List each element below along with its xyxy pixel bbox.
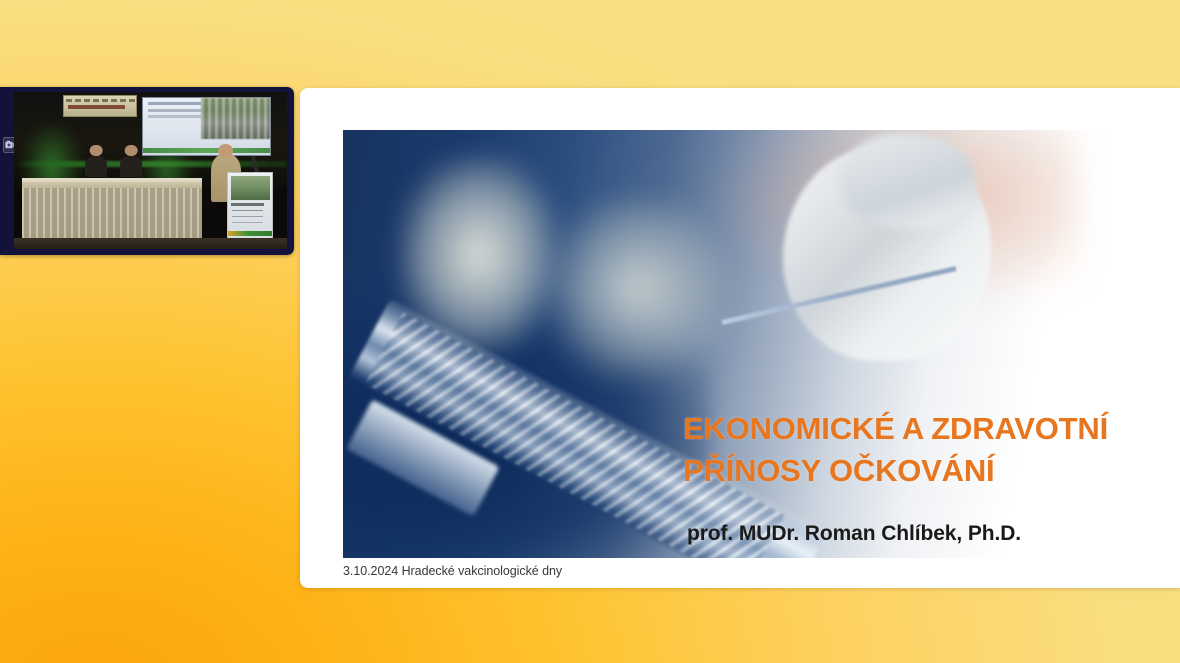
lectern-poster-image <box>231 176 270 200</box>
lectern-poster-text <box>231 203 264 206</box>
presentation-slide-image[interactable]: EKONOMICKÉ A ZDRAVOTNÍ PŘÍNOSY OČKOVÁNÍ … <box>343 130 1143 558</box>
slide-title: EKONOMICKÉ A ZDRAVOTNÍ PŘÍNOSY OČKOVÁNÍ <box>683 408 1139 491</box>
slide-panel: EKONOMICKÉ A ZDRAVOTNÍ PŘÍNOSY OČKOVÁNÍ … <box>300 88 1180 588</box>
stage-floor-light-stripe <box>14 161 287 167</box>
webcam-video-panel[interactable] <box>0 87 294 255</box>
projected-photo <box>201 98 269 140</box>
slide-photo-bokeh-two <box>551 198 727 378</box>
seated-panelist-two <box>120 156 142 176</box>
lectern-poster-band <box>228 231 272 236</box>
presentation-viewer-stage: EKONOMICKÉ A ZDRAVOTNÍ PŘÍNOSY OČKOVÁNÍ … <box>0 0 1180 663</box>
projected-green-band <box>143 148 269 153</box>
vaccine-vial-cap-shape <box>839 134 975 228</box>
projected-text-lines <box>148 102 201 105</box>
panelist-head <box>90 145 103 157</box>
lectern-poster <box>227 172 273 240</box>
conference-room-scene <box>14 92 287 249</box>
slide-author: prof. MUDr. Roman Chlíbek, Ph.D. <box>683 522 1139 546</box>
panelist-head <box>125 145 138 157</box>
projection-screen <box>142 97 270 157</box>
panel-table-skirt <box>22 180 202 243</box>
conference-banner <box>63 95 137 117</box>
foreground-floor <box>14 238 287 249</box>
slide-footer-caption: 3.10.2024 Hradecké vakcinologické dny <box>343 564 562 578</box>
webcam-video-surface <box>14 92 287 249</box>
seated-panelist-one <box>85 156 107 176</box>
